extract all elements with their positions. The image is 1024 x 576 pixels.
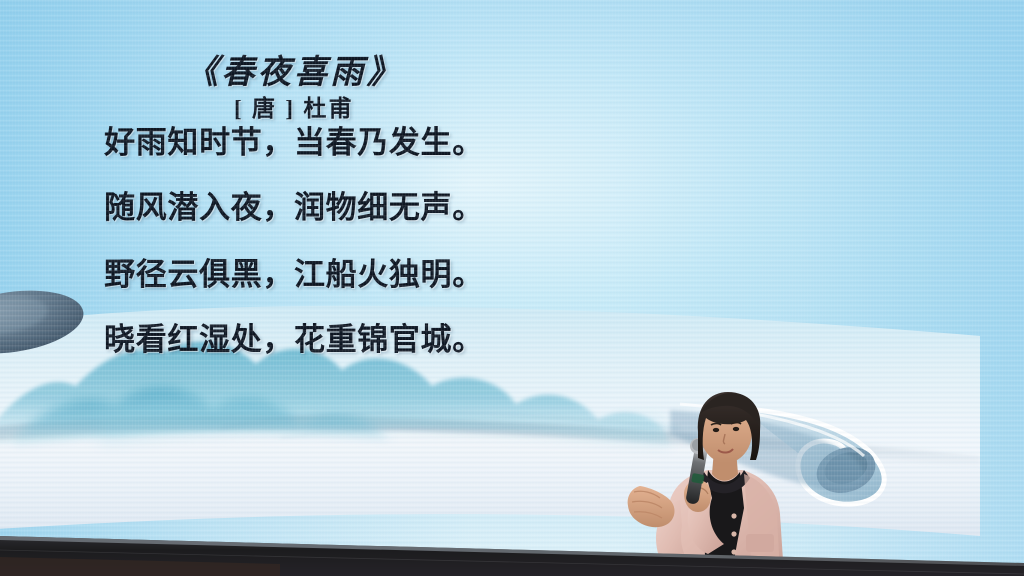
poem-line-2: 随风潜入夜，润物细无声。	[0, 192, 588, 223]
poem-block: 《春夜喜雨》 [ 唐 ] 杜甫 好雨知时节，当春乃发生。 随风潜入夜，润物细无声…	[0, 54, 588, 355]
presenter-speaker	[612, 388, 802, 576]
poem-line-1: 好雨知时节，当春乃发生。	[0, 127, 588, 158]
poem-line-4: 晓看红湿处，花重锦官城。	[0, 324, 588, 355]
presentation-screenshot: 《春夜喜雨》 [ 唐 ] 杜甫 好雨知时节，当春乃发生。 随风潜入夜，润物细无声…	[0, 0, 1024, 576]
poem-author: [ 唐 ] 杜甫	[0, 95, 588, 123]
poem-title: 《春夜喜雨》	[0, 54, 588, 93]
presenter-head	[698, 392, 760, 463]
poem-line-3: 野径云俱黑，江船火独明。	[0, 259, 588, 290]
